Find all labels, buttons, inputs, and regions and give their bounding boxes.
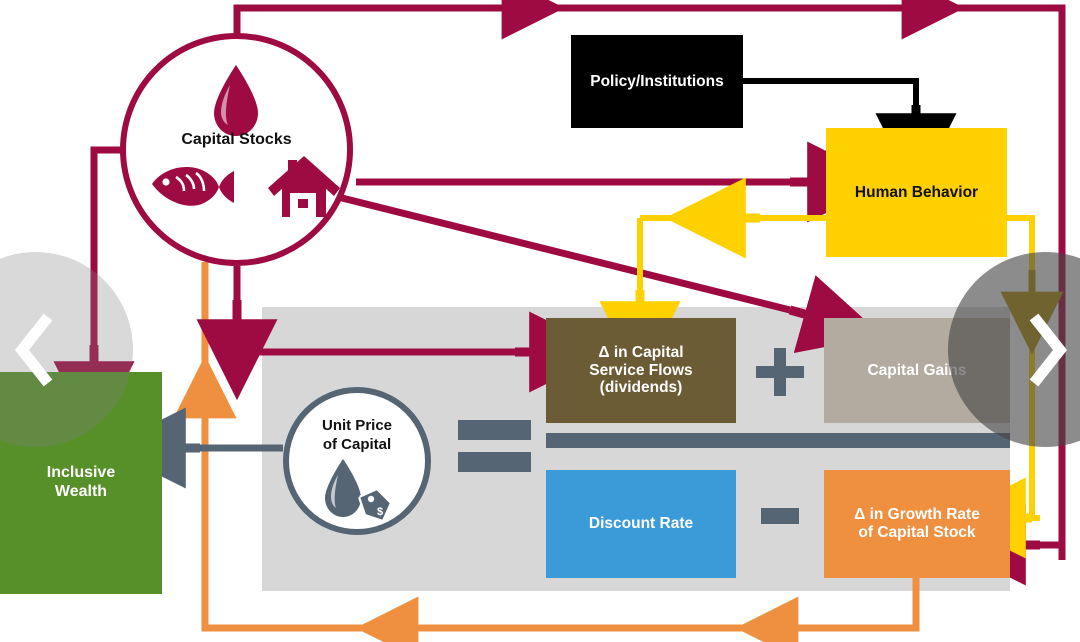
diagram-canvas: Policy/Institutions Human Behavior Inclu… — [0, 0, 1080, 642]
node-capital-stocks[interactable]: Capital Stocks — [120, 33, 353, 266]
fish-icon — [152, 167, 234, 206]
service-flows-label-line1: Δ in Capital — [589, 344, 692, 362]
inclusive-wealth-label-line2: Wealth — [47, 483, 115, 502]
chevron-left-icon — [8, 311, 64, 389]
node-policy-institutions[interactable]: Policy/Institutions — [571, 35, 743, 128]
discount-rate-label: Discount Rate — [589, 515, 693, 533]
plus-sign-icon — [756, 348, 804, 396]
inclusive-wealth-label-line1: Inclusive — [47, 464, 115, 483]
capital-stocks-icons — [126, 39, 347, 260]
node-capital-service-flows[interactable]: Δ in Capital Service Flows (dividends) — [546, 318, 736, 423]
equals-sign-top-bar — [458, 420, 531, 440]
capital-stocks-label: Capital Stocks — [126, 131, 347, 149]
service-flows-label-line3: (dividends) — [589, 379, 692, 397]
minus-sign-icon — [761, 508, 799, 524]
node-unit-price-of-capital[interactable]: Unit Price of Capital $ — [283, 387, 431, 535]
service-flows-label-line2: Service Flows — [589, 362, 692, 380]
growth-rate-label-line1: Δ in Growth Rate — [854, 506, 980, 524]
fraction-bar — [546, 433, 1010, 448]
equals-sign-bottom-bar — [458, 452, 531, 472]
human-behavior-label: Human Behavior — [855, 184, 978, 202]
svg-text:$: $ — [377, 506, 383, 518]
chevron-right-icon — [1018, 311, 1074, 389]
policy-institutions-label: Policy/Institutions — [590, 73, 723, 91]
node-growth-rate-capital-stock[interactable]: Δ in Growth Rate of Capital Stock — [824, 470, 1010, 578]
node-human-behavior[interactable]: Human Behavior — [826, 128, 1007, 257]
node-discount-rate[interactable]: Discount Rate — [546, 470, 736, 578]
growth-rate-label-line2: of Capital Stock — [854, 524, 980, 542]
unit-price-icons: $ — [289, 393, 425, 529]
edge-policy-to-humanbehavior — [743, 81, 916, 124]
water-drop-icon — [214, 65, 258, 136]
water-drop-icon — [325, 459, 361, 517]
house-icon — [268, 156, 340, 217]
